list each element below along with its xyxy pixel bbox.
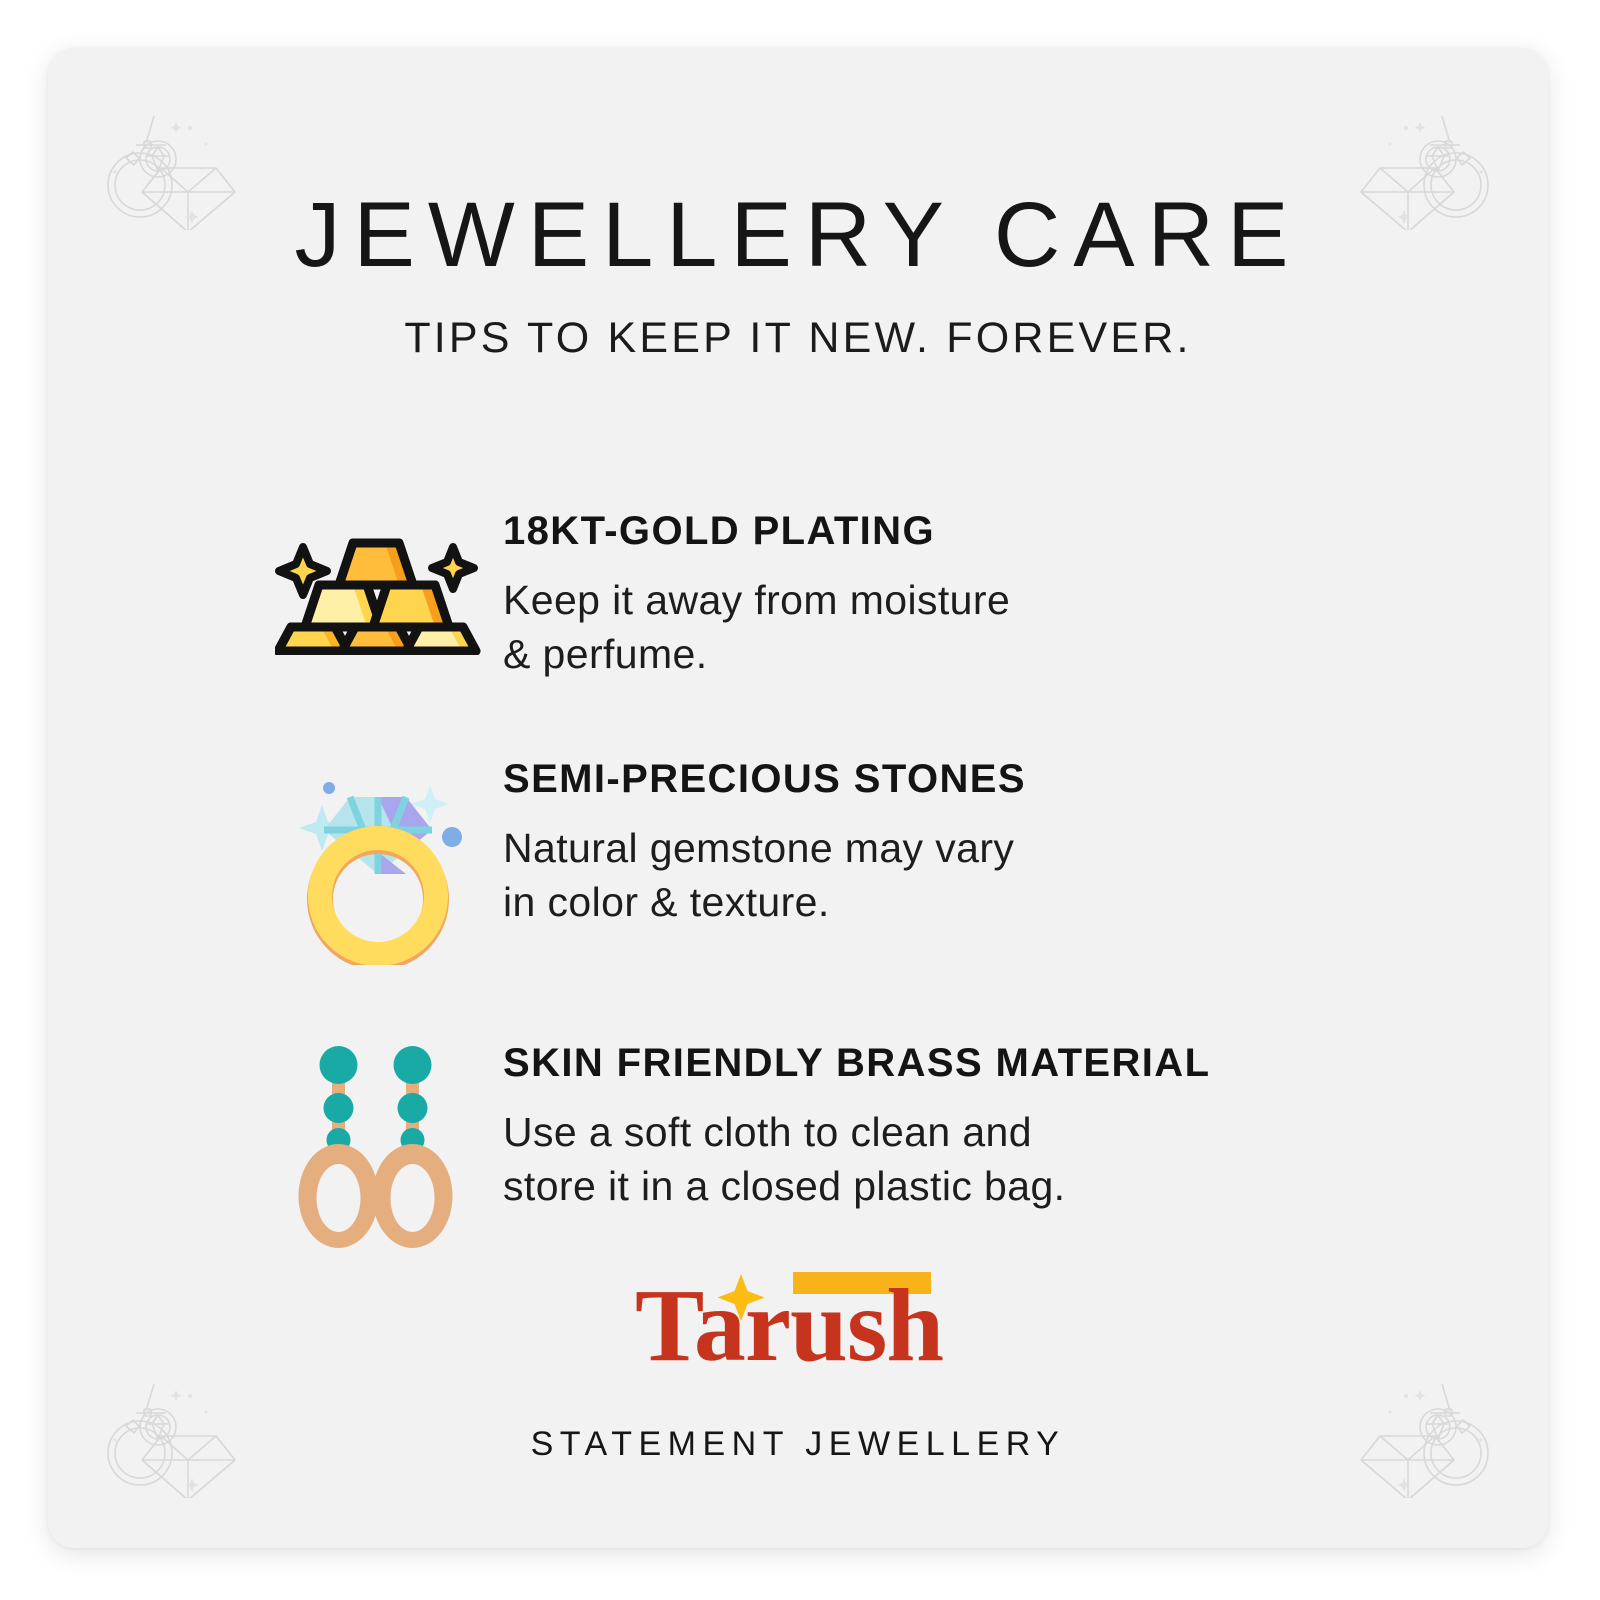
brand-tagline: STATEMENT JEWELLERY xyxy=(48,1425,1548,1464)
tip-icon-wrapper xyxy=(253,751,503,965)
tip-text-wrapper: 18KT-GOLD PLATING Keep it away from mois… xyxy=(503,503,1453,681)
tip-item-gold-plating: 18KT-GOLD PLATING Keep it away from mois… xyxy=(253,503,1453,681)
tip-body: Use a soft cloth to clean and store it i… xyxy=(503,1105,1453,1213)
care-card: JEWELLERY CARE TIPS TO KEEP IT NEW. FORE… xyxy=(48,48,1548,1548)
earrings-icon xyxy=(293,1041,463,1251)
tip-item-brass-material: SKIN FRIENDLY BRASS MATERIAL Use a soft … xyxy=(253,1035,1453,1251)
tip-item-semi-precious-stones: SEMI-PRECIOUS STONES Natural gemstone ma… xyxy=(253,751,1453,965)
tip-text-wrapper: SKIN FRIENDLY BRASS MATERIAL Use a soft … xyxy=(503,1035,1453,1213)
page-subtitle: TIPS TO KEEP IT NEW. FOREVER. xyxy=(48,314,1548,363)
tip-title: 18KT-GOLD PLATING xyxy=(503,507,1453,555)
header: JEWELLERY CARE TIPS TO KEEP IT NEW. FORE… xyxy=(48,188,1548,363)
tip-icon-wrapper xyxy=(253,503,503,655)
tarush-logotype: Tarush xyxy=(633,1260,963,1376)
tip-body: Natural gemstone may vary in color & tex… xyxy=(503,821,1453,929)
tip-body: Keep it away from moisture & perfume. xyxy=(503,573,1453,681)
diamond-ring-icon xyxy=(280,755,476,965)
tip-title: SKIN FRIENDLY BRASS MATERIAL xyxy=(503,1039,1453,1087)
tip-title: SEMI-PRECIOUS STONES xyxy=(503,755,1453,803)
footer: Tarush STATEMENT JEWELLERY xyxy=(48,1260,1548,1464)
care-tips-list: 18KT-GOLD PLATING Keep it away from mois… xyxy=(253,503,1453,1251)
earring-right xyxy=(373,1046,453,1248)
logo-text: Tarush xyxy=(635,1268,943,1376)
brand-logo: Tarush xyxy=(633,1260,963,1381)
gold-bars-icon xyxy=(275,517,481,655)
page-title: JEWELLERY CARE xyxy=(48,188,1548,284)
earring-left xyxy=(299,1046,379,1248)
tip-icon-wrapper xyxy=(253,1035,503,1251)
tip-text-wrapper: SEMI-PRECIOUS STONES Natural gemstone ma… xyxy=(503,751,1453,929)
infographic-page: JEWELLERY CARE TIPS TO KEEP IT NEW. FORE… xyxy=(0,0,1600,1600)
